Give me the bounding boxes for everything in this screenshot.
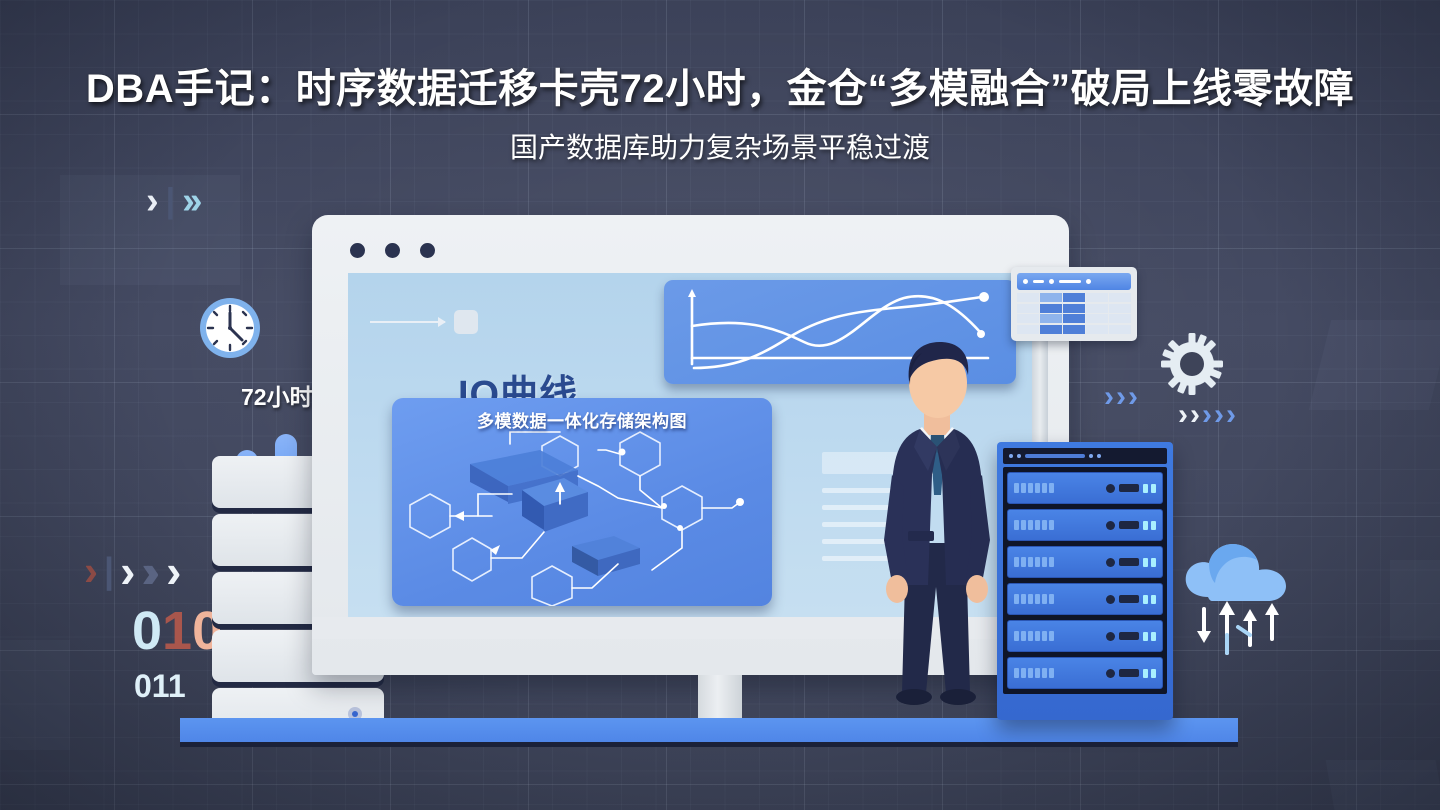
gear-icon — [1160, 332, 1224, 396]
rack-body — [1003, 467, 1167, 694]
rack-lights — [1143, 484, 1156, 493]
rack-lights — [1143, 521, 1156, 530]
table-cell — [1017, 304, 1039, 313]
chevron-right-icon: › — [1128, 382, 1138, 412]
chevron-right-icon: › — [166, 548, 181, 594]
rack-unit — [1007, 620, 1163, 652]
rack-slots — [1014, 483, 1102, 493]
rack-bar — [1119, 484, 1139, 492]
square-node-icon — [454, 310, 478, 334]
rack-unit — [1007, 657, 1163, 689]
rack-bar — [1119, 669, 1139, 677]
chevron-right-icon: › — [1104, 382, 1114, 412]
rack-bar — [1119, 632, 1139, 640]
table-cell — [1063, 325, 1085, 334]
rack-dot — [1017, 454, 1021, 458]
rack-knob — [1106, 558, 1115, 567]
table-cell — [1109, 293, 1131, 302]
rack-bar — [1119, 521, 1139, 529]
window-dot[interactable] — [420, 243, 435, 258]
table-cell — [1086, 304, 1108, 313]
window-control-dots — [350, 243, 435, 258]
rack-slots — [1014, 668, 1102, 678]
window-dot[interactable] — [350, 243, 365, 258]
architecture-diagram-card: 多模数据一体化存储架构图 — [392, 398, 772, 606]
chevron-group-gear-left: › › › — [1104, 382, 1138, 412]
chevron-group-gear-right: › › › › › — [1178, 400, 1236, 430]
rack-lights — [1143, 595, 1156, 604]
rack-knob — [1106, 484, 1115, 493]
chevron-right-icon: › — [1226, 400, 1236, 430]
chevron-group-mid-left: › | › › › › — [84, 548, 181, 594]
rack-bar — [1025, 454, 1085, 458]
table-dash — [1059, 280, 1081, 283]
rack-unit — [1007, 509, 1163, 541]
rack-knob — [1106, 669, 1115, 678]
rack-dot — [1089, 454, 1093, 458]
chevron-right-icon: › — [1116, 382, 1126, 412]
clock-duration-label: 72小时 — [241, 378, 313, 412]
table-dot — [1023, 279, 1028, 284]
rack-unit — [1007, 583, 1163, 615]
rack-slots — [1014, 631, 1102, 641]
chevron-right-icon: › — [190, 182, 203, 220]
table-cell — [1109, 314, 1131, 323]
table-cell — [1063, 314, 1085, 323]
rack-bar — [1119, 558, 1139, 566]
page-title: DBA手记：时序数据迁移卡壳72小时，金仓“多模融合”破局上线零故障 — [0, 56, 1440, 114]
chevron-divider-icon: | — [104, 553, 114, 589]
rack-lights — [1143, 669, 1156, 678]
table-cell — [1040, 293, 1062, 302]
chevron-right-icon: › — [145, 548, 160, 594]
rack-unit — [1007, 472, 1163, 504]
architecture-diagram-title: 多模数据一体化存储架构图 — [392, 407, 772, 432]
rack-slots — [1014, 520, 1102, 530]
rack-knob — [1106, 632, 1115, 641]
chevron-group-top-left: › | › › — [146, 182, 202, 220]
binary-digit: 0 — [132, 601, 162, 661]
table-cell — [1063, 293, 1085, 302]
floor-platform — [180, 718, 1238, 742]
table-cell — [1086, 325, 1108, 334]
binary-text-small: 011 — [134, 668, 186, 705]
rack-header — [1003, 448, 1167, 464]
rack-lights — [1143, 558, 1156, 567]
table-dash — [1033, 280, 1044, 283]
table-dot — [1049, 279, 1054, 284]
businessman-figure — [862, 335, 1012, 725]
binary-text-large: 010 — [132, 600, 222, 662]
page-subtitle: 国产数据库助力复杂场景平稳过渡 — [0, 126, 1440, 166]
table-cell — [1017, 314, 1039, 323]
pointer-arrow-icon — [370, 321, 445, 323]
table-icon — [1011, 267, 1137, 341]
chevron-right-icon: › — [1178, 400, 1188, 430]
table-icon-pole — [1032, 330, 1048, 450]
chevron-right-icon: › — [120, 548, 135, 594]
table-cell — [1109, 325, 1131, 334]
rack-lights — [1143, 632, 1156, 641]
table-cell — [1086, 314, 1108, 323]
server-rack-icon — [997, 442, 1173, 720]
chevron-right-icon: › — [146, 182, 159, 220]
table-icon-header — [1017, 273, 1131, 290]
table-cell — [1109, 304, 1131, 313]
rack-dot — [1097, 454, 1101, 458]
table-cell — [1040, 304, 1062, 313]
cloud-icon — [1178, 535, 1296, 655]
window-dot[interactable] — [385, 243, 400, 258]
rack-knob — [1106, 595, 1115, 604]
binary-digit: 1 — [162, 601, 192, 661]
chevron-divider-icon: | — [166, 184, 176, 218]
chevron-right-icon: › — [1214, 400, 1224, 430]
clock-icon — [198, 296, 262, 360]
table-icon-grid — [1017, 293, 1131, 334]
table-cell — [1017, 293, 1039, 302]
chevron-right-icon: › — [1190, 400, 1200, 430]
table-cell — [1063, 304, 1085, 313]
poster-canvas: DBA手记：时序数据迁移卡壳72小时，金仓“多模融合”破局上线零故障 国产数据库… — [0, 0, 1440, 810]
chevron-right-icon: › — [84, 550, 98, 592]
table-dot — [1086, 279, 1091, 284]
rack-unit — [1007, 546, 1163, 578]
rack-knob — [1106, 521, 1115, 530]
rack-bar — [1119, 595, 1139, 603]
rack-slots — [1014, 594, 1102, 604]
table-cell — [1040, 325, 1062, 334]
table-cell — [1040, 314, 1062, 323]
rack-slots — [1014, 557, 1102, 567]
table-cell — [1017, 325, 1039, 334]
chevron-right-icon: › — [1202, 400, 1212, 430]
table-cell — [1086, 293, 1108, 302]
